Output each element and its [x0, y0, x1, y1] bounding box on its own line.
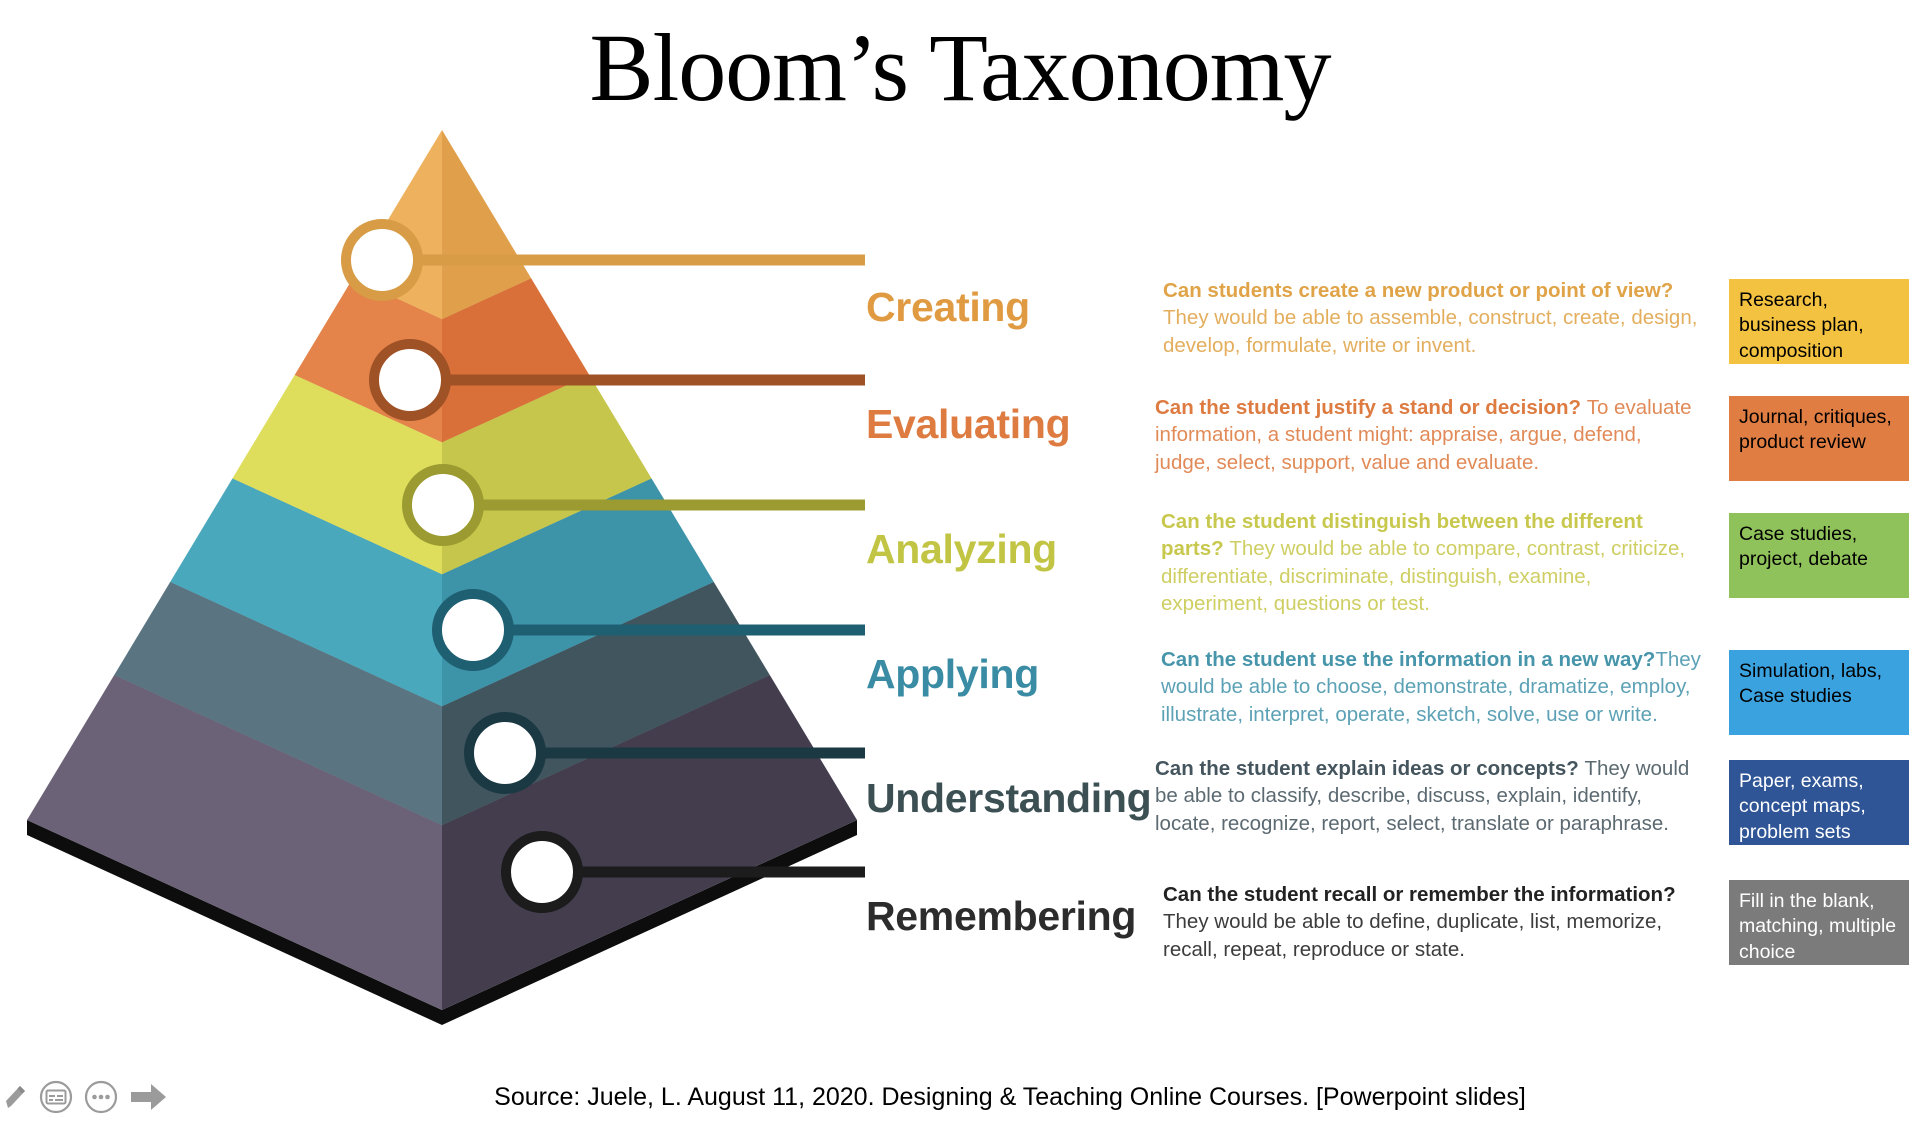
level-label-creating: Creating — [866, 284, 1030, 331]
assessment-box-applying: Simulation, labs, Case studies — [1729, 650, 1909, 735]
marker-ring — [346, 224, 418, 296]
bloom-pyramid — [10, 130, 890, 1123]
question-remembering: Can the student recall or remember the i… — [1163, 883, 1676, 906]
marker-ring — [374, 344, 446, 416]
description-creating: Can students create a new product or poi… — [1163, 277, 1703, 359]
assessment-box-analyzing: Case studies, project, debate — [1729, 513, 1909, 598]
question-understanding: Can the student explain ideas or concept… — [1155, 757, 1584, 780]
presenter-toolbar[interactable] — [2, 1080, 169, 1114]
page-title: Bloom’s Taxonomy — [0, 14, 1920, 122]
description-applying: Can the student use the information in a… — [1161, 646, 1701, 728]
description-understanding: Can the student explain ideas or concept… — [1155, 755, 1695, 837]
level-label-understanding: Understanding — [866, 775, 1151, 822]
level-label-remembering: Remembering — [866, 893, 1136, 940]
description-remembering: Can the student recall or remember the i… — [1163, 881, 1703, 963]
level-label-applying: Applying — [866, 651, 1039, 698]
marker-ring — [506, 836, 578, 908]
marker-ring — [407, 469, 479, 541]
question-evaluating: Can the student justify a stand or decis… — [1155, 396, 1587, 419]
verbs-creating: They would be able to assemble, construc… — [1163, 306, 1697, 356]
description-analyzing: Can the student distinguish between the … — [1161, 508, 1701, 617]
question-creating: Can students create a new product or poi… — [1163, 279, 1673, 302]
level-label-evaluating: Evaluating — [866, 401, 1070, 448]
pen-icon[interactable] — [2, 1082, 28, 1112]
assessment-box-understanding: Paper, exams, concept maps, problem sets — [1729, 760, 1909, 845]
marker-ring — [437, 594, 509, 666]
more-options-icon[interactable] — [84, 1080, 118, 1114]
marker-ring — [469, 717, 541, 789]
level-label-analyzing: Analyzing — [866, 526, 1057, 573]
assessment-box-evaluating: Journal, critiques, product review — [1729, 396, 1909, 481]
verbs-remembering: They would be able to define, duplicate,… — [1163, 910, 1662, 960]
assessment-box-creating: Research, business plan, composition — [1729, 279, 1909, 364]
subtitles-icon[interactable] — [39, 1080, 73, 1114]
assessment-box-remembering: Fill in the blank, matching, multiple ch… — [1729, 880, 1909, 965]
next-slide-arrow-icon[interactable] — [129, 1081, 169, 1113]
description-evaluating: Can the student justify a stand or decis… — [1155, 394, 1695, 476]
slide-canvas: Bloom’s Taxonomy Creating Evaluating Ana… — [0, 0, 1920, 1123]
verbs-analyzing: They would be able to compare, contrast,… — [1161, 537, 1685, 615]
source-citation: Source: Juele, L. August 11, 2020. Desig… — [0, 1083, 1920, 1112]
question-applying: Can the student use the information in a… — [1161, 648, 1655, 671]
